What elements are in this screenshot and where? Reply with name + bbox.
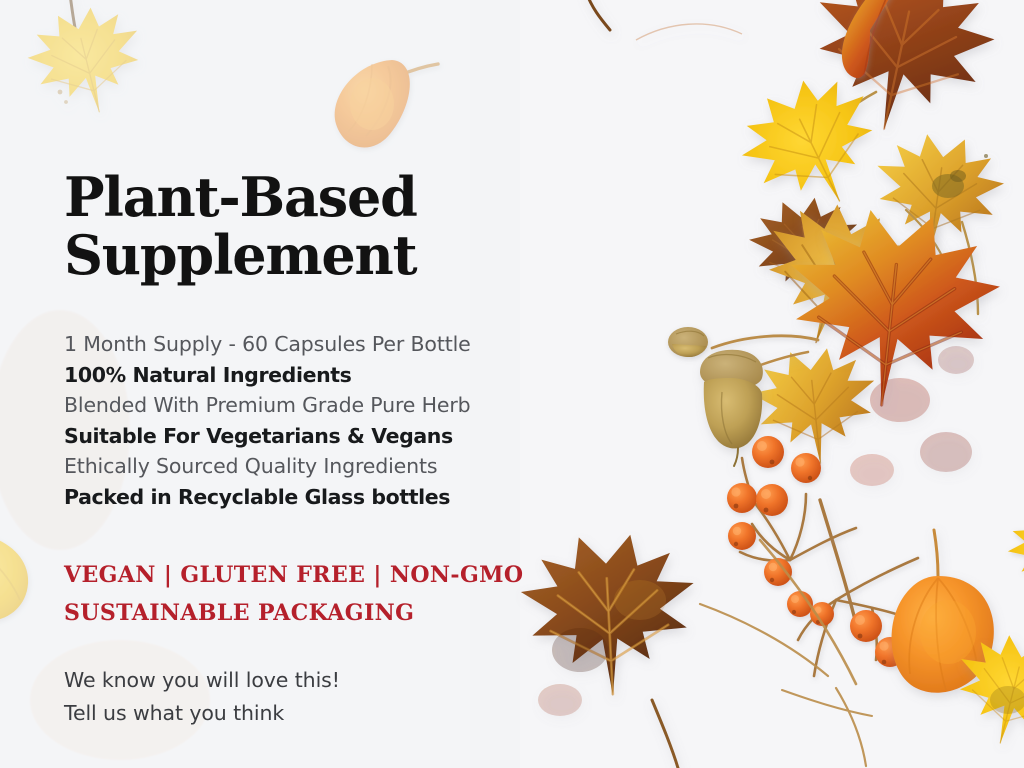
feature-item-packaging: Packed in Recyclable Glass bottles xyxy=(64,482,584,513)
page-title: Plant-Based Supplement xyxy=(64,168,417,285)
certification-badges: VEGAN | GLUTEN FREE | NON-GMO SUSTAINABL… xyxy=(64,556,523,632)
feature-item-ethical: Ethically Sourced Quality Ingredients xyxy=(64,451,584,482)
feature-list: 1 Month Supply - 60 Capsules Per Bottle … xyxy=(64,329,584,512)
marketing-copy: Plant-Based Supplement 1 Month Supply - … xyxy=(64,0,584,768)
closing-message: We know you will love this! Tell us what… xyxy=(64,664,340,730)
feature-item-blended: Blended With Premium Grade Pure Herb xyxy=(64,390,584,421)
banner-canvas: Plant-Based Supplement 1 Month Supply - … xyxy=(0,0,1024,768)
feature-item-natural: 100% Natural Ingredients xyxy=(64,360,584,391)
badge-sustainable-packaging: SUSTAINABLE PACKAGING xyxy=(64,594,523,632)
feature-item-vegetarian: Suitable For Vegetarians & Vegans xyxy=(64,421,584,452)
feature-item-supply: 1 Month Supply - 60 Capsules Per Bottle xyxy=(64,329,584,360)
badge-vegan-gluten-nongmo: VEGAN | GLUTEN FREE | NON-GMO xyxy=(64,556,523,594)
